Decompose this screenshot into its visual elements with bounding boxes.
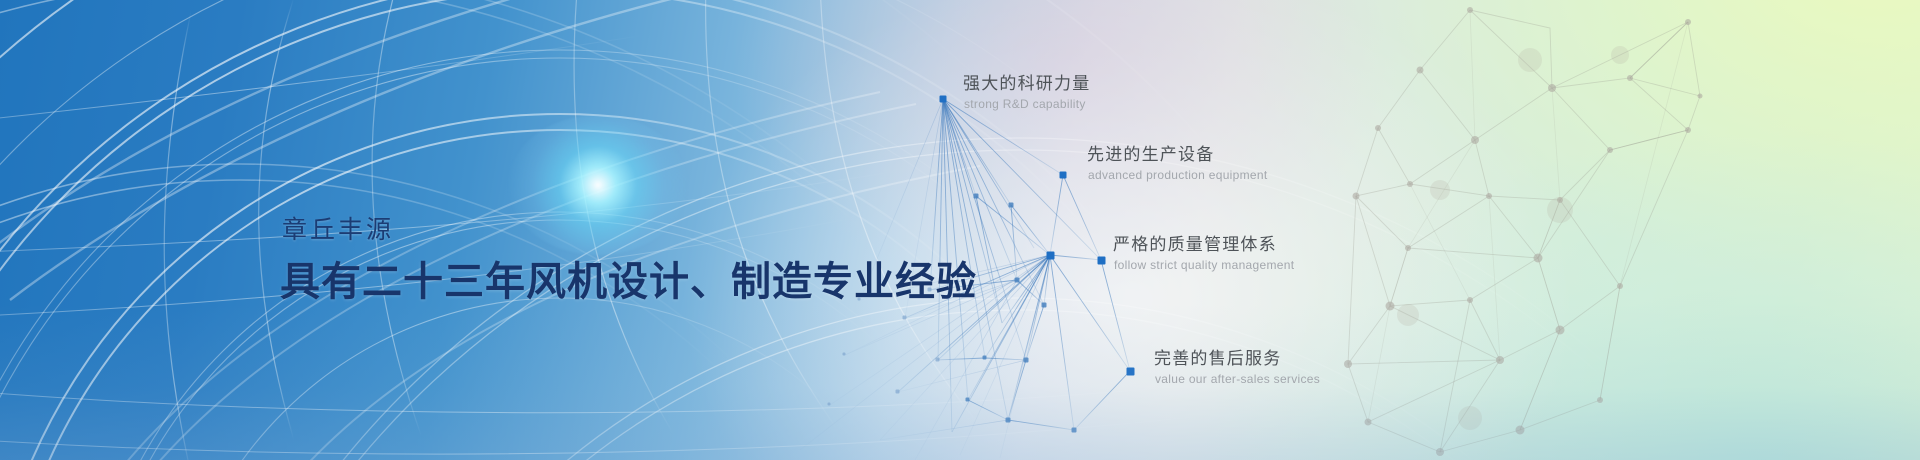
feature-label-en-equipment: advanced production equipment [1088,168,1268,183]
feature-label-en-service: value our after-sales services [1155,372,1320,387]
feature-label-en-quality: follow strict quality management [1114,258,1294,273]
hero-banner: 章丘丰源 具有二十三年风机设计、制造专业经验 强大的科研力量 strong R&… [0,0,1920,460]
feature-item-quality: 严格的质量管理体系 follow strict quality manageme… [1113,235,1294,273]
feature-label-cn-service: 完善的售后服务 [1154,349,1320,369]
feature-label-cn-rd: 强大的科研力量 [963,74,1090,94]
feature-item-equipment: 先进的生产设备 advanced production equipment [1087,145,1268,183]
feature-label-en-rd: strong R&D capability [964,97,1090,112]
feature-item-service: 完善的售后服务 value our after-sales services [1154,349,1320,387]
feature-label-cn-quality: 严格的质量管理体系 [1113,235,1294,255]
feature-item-rd: 强大的科研力量 strong R&D capability [963,74,1090,112]
feature-label-cn-equipment: 先进的生产设备 [1087,145,1268,165]
brand-name: 章丘丰源 [282,218,977,243]
headline-block: 章丘丰源 具有二十三年风机设计、制造专业经验 [280,218,977,302]
headline-title: 具有二十三年风机设计、制造专业经验 [280,262,977,302]
